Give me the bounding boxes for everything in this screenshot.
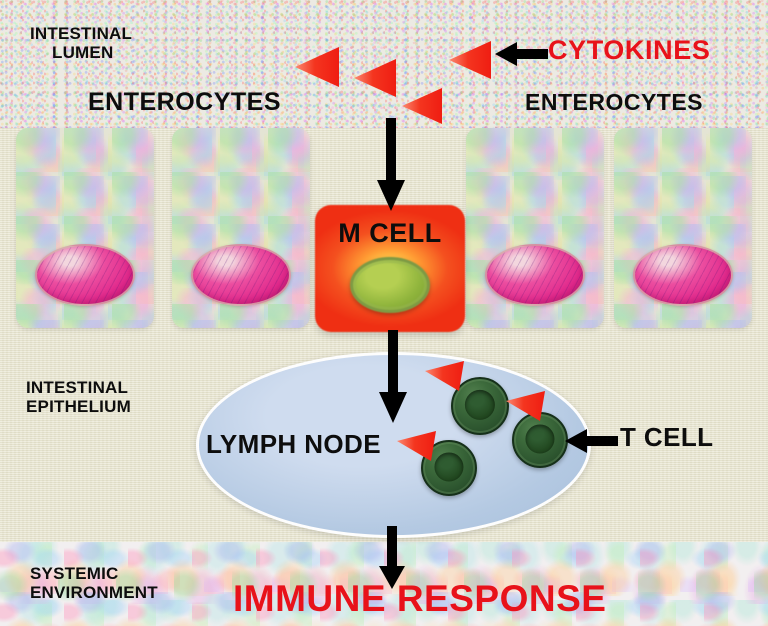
arrow-cytokines-label [495, 40, 549, 68]
enterocyte-right-outer [614, 128, 752, 328]
label-t-cell: T CELL [620, 423, 713, 453]
label-m-cell: M CELL [315, 218, 465, 249]
label-intestinal-epithelium-line2: EPITHELIUM [26, 397, 131, 416]
label-enterocytes-right: ENTEROCYTES [525, 89, 703, 115]
label-intestinal-lumen-line2: LUMEN [52, 43, 132, 62]
enterocyte-nucleus [191, 244, 291, 306]
enterocyte-nucleus [35, 244, 135, 306]
enterocyte-left-inner [172, 128, 310, 328]
label-intestinal-epithelium-line1: INTESTINAL [26, 378, 128, 397]
label-enterocytes-left: ENTEROCYTES [88, 88, 281, 117]
label-immune-response: IMMUNE RESPONSE [233, 578, 606, 620]
cytokine-triangle-icon [396, 430, 436, 464]
cytokine-triangle-icon [293, 44, 339, 90]
label-lymph-node: LYMPH NODE [206, 430, 381, 460]
m-cell-nucleus [350, 257, 430, 313]
cytokine-triangle-icon [352, 56, 396, 100]
label-systemic-environment-line2: ENVIRONMENT [30, 583, 158, 602]
arrow-lumen-to-m-cell [376, 118, 406, 212]
t-cell-nucleus [434, 452, 463, 481]
label-intestinal-lumen: INTESTINALLUMEN [30, 24, 132, 63]
cytokine-triangle-icon [400, 85, 442, 127]
cytokine-triangle-icon [505, 390, 545, 424]
t-cell-nucleus [465, 390, 495, 420]
enterocyte-nucleus [485, 244, 585, 306]
label-systemic-environment-line1: SYSTEMIC [30, 564, 119, 583]
enterocyte-nucleus [633, 244, 733, 306]
cytokine-triangle-icon [424, 360, 464, 394]
t-cell-nucleus [525, 424, 554, 453]
label-intestinal-epithelium: INTESTINALEPITHELIUM [26, 378, 131, 417]
arrow-t-cell-label [565, 427, 619, 455]
label-intestinal-lumen-line1: INTESTINAL [30, 24, 132, 43]
enterocyte-right-inner [466, 128, 604, 328]
label-systemic-environment: SYSTEMICENVIRONMENT [30, 564, 158, 603]
cytokine-triangle-icon [447, 38, 491, 82]
label-cytokines: CYTOKINES [548, 35, 710, 66]
arrow-m-cell-to-lymph [378, 330, 408, 424]
diagram-canvas: INTESTINALLUMEN ENTEROCYTES ENTEROCYTES … [0, 0, 768, 626]
enterocyte-left-outer [16, 128, 154, 328]
